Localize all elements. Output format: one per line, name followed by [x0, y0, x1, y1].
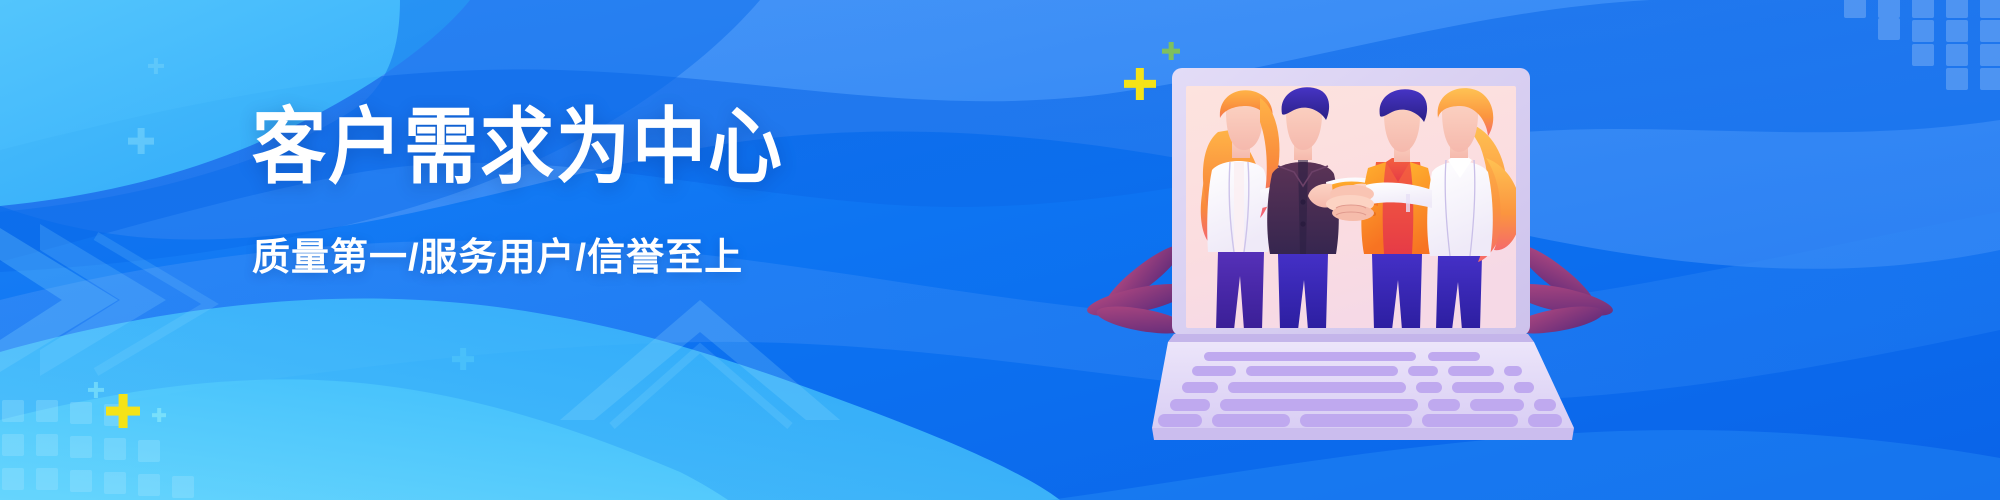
plus-cyan-bottom-b	[152, 408, 166, 422]
laptop-keyboard	[1152, 334, 1574, 440]
plus-cyan-left-b	[128, 128, 154, 154]
page-title: 客户需求为中心	[252, 104, 812, 192]
plus-cyan-bottom	[88, 382, 104, 398]
laptop-screen	[1172, 68, 1530, 336]
plus-green-top	[1162, 42, 1180, 60]
plus-cyan-mid	[452, 348, 474, 370]
headline-block: 客户需求为中心 质量第一/服务用户/信誉至上	[252, 104, 812, 280]
plus-yellow-top	[1124, 68, 1156, 100]
laptop-illustration	[1160, 62, 1590, 462]
plus-cyan-left-a	[148, 58, 164, 74]
promo-banner: 客户需求为中心 质量第一/服务用户/信誉至上	[0, 0, 2000, 500]
page-subtitle: 质量第一/服务用户/信誉至上	[252, 182, 812, 280]
plus-yellow-bottom	[106, 394, 140, 428]
stacked-hands	[1326, 185, 1374, 221]
